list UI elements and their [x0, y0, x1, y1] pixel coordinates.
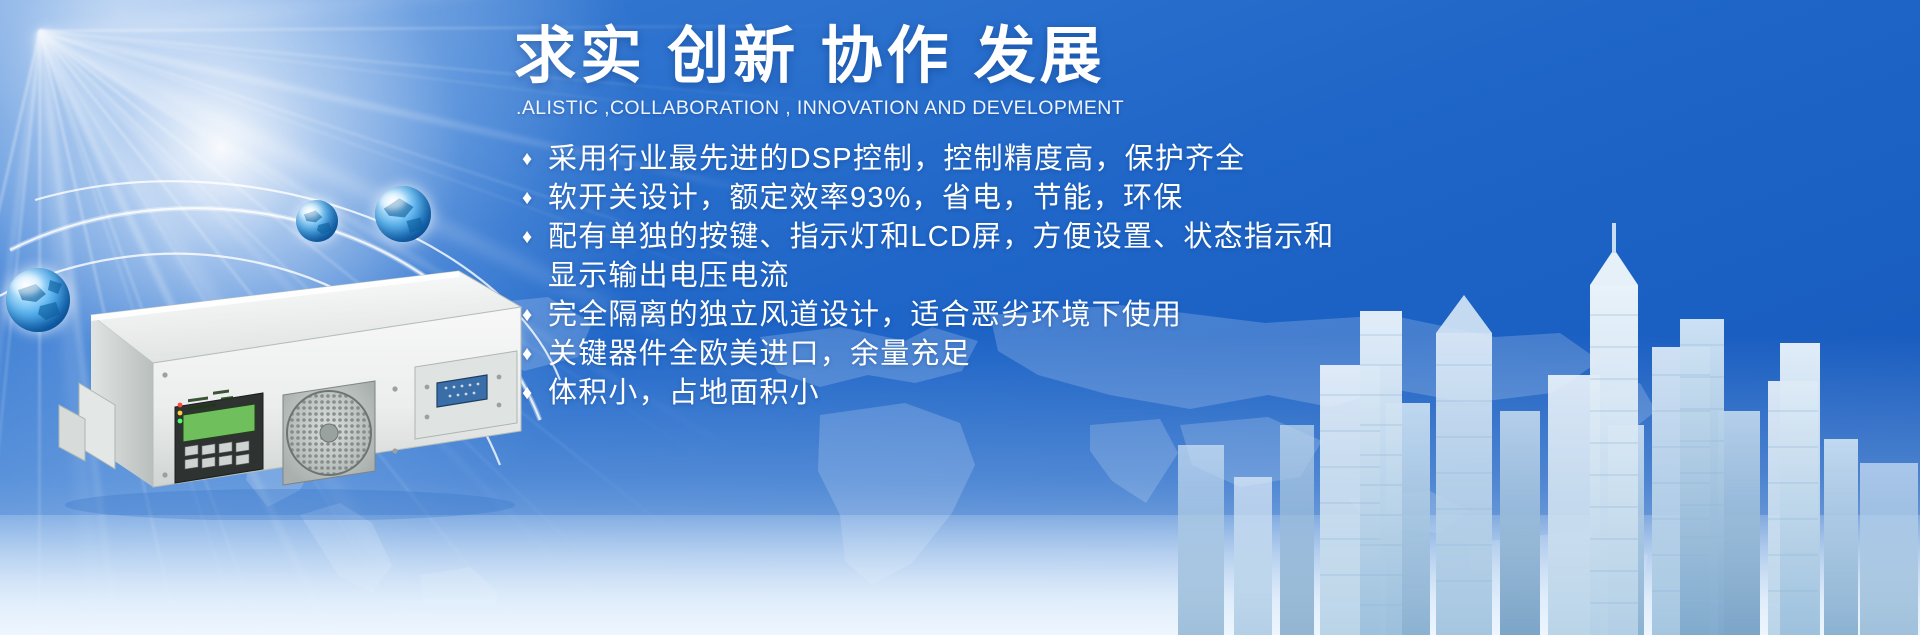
feature-list-item: ♦软开关设计，额定效率93%，省电，节能，环保	[522, 179, 1508, 218]
feature-list-item: ♦配有单独的按键、指示灯和LCD屏，方便设置、状态指示和	[522, 218, 1508, 257]
rackmount-power-supply	[55, 255, 525, 520]
feature-list-item: ♦显示输出电压电流	[522, 257, 1508, 296]
feature-list-item: ♦体积小，占地面积小	[522, 374, 1508, 413]
diamond-bullet-icon: ♦	[522, 140, 548, 179]
feature-list-item-label: 软开关设计，额定效率93%，省电，节能，环保	[548, 179, 1183, 218]
page-subtitle: .ALISTIC ,COLLABORATION , INNOVATION AND…	[516, 97, 1508, 120]
feature-list: ♦采用行业最先进的DSP控制，控制精度高，保护齐全♦软开关设计，额定效率93%，…	[522, 140, 1508, 413]
light-ray	[38, 31, 41, 635]
feature-list-item: ♦完全隔离的独立风道设计，适合恶劣环境下使用	[522, 296, 1508, 335]
diamond-bullet-icon: ♦	[522, 179, 548, 218]
feature-list-item: ♦采用行业最先进的DSP控制，控制精度高，保护齐全	[522, 140, 1508, 179]
light-ray	[0, 31, 41, 635]
feature-list-item-label: 完全隔离的独立风道设计，适合恶劣环境下使用	[548, 296, 1182, 335]
light-ray	[0, 31, 41, 635]
promo-banner: 求实 创新 协作 发展 .ALISTIC ,COLLABORATION , IN…	[0, 0, 1920, 635]
diamond-bullet-icon: ♦	[522, 218, 548, 257]
feature-list-item: ♦关键器件全欧美进口，余量充足	[522, 335, 1508, 374]
banner-text-block: 求实 创新 协作 发展 .ALISTIC ,COLLABORATION , IN…	[508, 18, 1508, 413]
feature-list-item-label: 采用行业最先进的DSP控制，控制精度高，保护齐全	[548, 140, 1245, 179]
feature-list-item-label: 显示输出电压电流	[548, 257, 790, 296]
diamond-bullet-icon: ♦	[522, 296, 548, 335]
page-title: 求实 创新 协作 发展	[514, 18, 1508, 96]
feature-list-item-label: 配有单独的按键、指示灯和LCD屏，方便设置、状态指示和	[548, 218, 1334, 257]
feature-list-item-label: 关键器件全欧美进口，余量充足	[548, 335, 971, 374]
globe-icon-2	[296, 200, 338, 242]
ground-haze	[0, 515, 1920, 635]
diamond-bullet-icon: ♦	[522, 374, 548, 413]
light-ray	[0, 32, 42, 635]
globe-icon-3	[375, 186, 431, 242]
feature-list-item-label: 体积小，占地面积小	[548, 374, 820, 413]
diamond-bullet-icon: ♦	[522, 335, 548, 374]
